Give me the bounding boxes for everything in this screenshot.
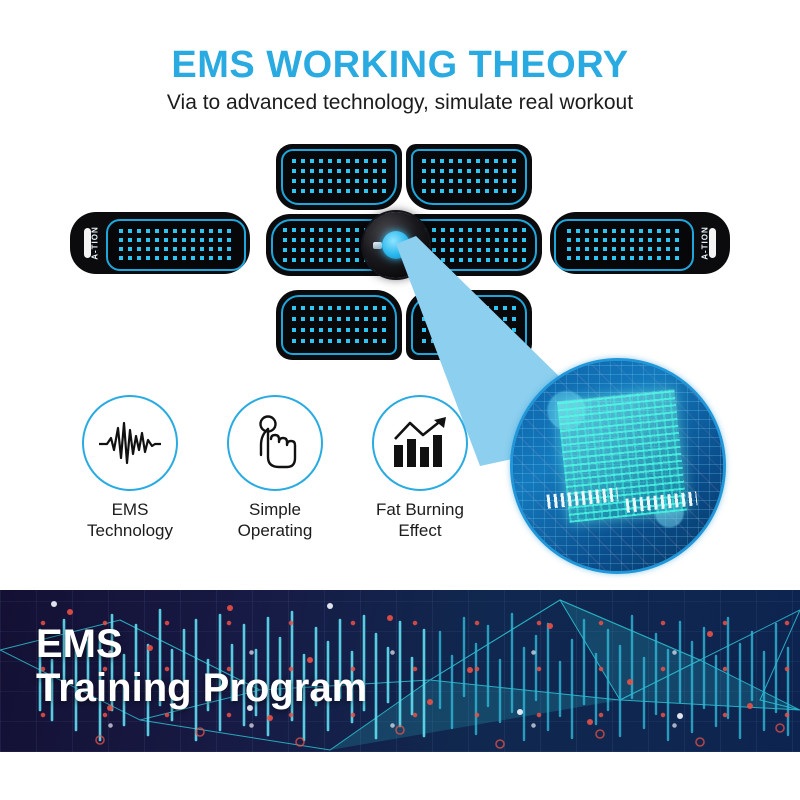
banner-line-2: Training Program [36, 666, 367, 710]
product-infographic: EMS WORKING THEORY Via to advanced techn… [0, 0, 800, 800]
feature-label: Fat BurningEffect [345, 500, 495, 541]
device-pad-bottom-left [276, 290, 402, 360]
circuit-board-magnifier [510, 358, 726, 574]
feature-icon-circle [82, 395, 178, 491]
bottom-banner: EMS Training Program [0, 590, 800, 752]
feature-label: EMSTechnology [55, 500, 205, 541]
separator-diamond-bottom [388, 277, 404, 293]
brand-logo-right: A-TION [701, 226, 710, 260]
feature-icon-circle [227, 395, 323, 491]
feature-ems-technology[interactable]: EMSTechnology [55, 395, 205, 541]
page-subtitle: Via to advanced technology, simulate rea… [0, 92, 800, 113]
hub-contact-left [373, 242, 382, 249]
touch-hand-icon [249, 415, 301, 471]
brand-logo-left: A-TION [90, 226, 99, 260]
feature-fat-burning-effect[interactable]: Fat BurningEffect [345, 395, 495, 541]
device-pad-top-left [276, 144, 402, 210]
ems-device-illustration: A-TION A-TION [70, 140, 730, 370]
banner-text: EMS Training Program [36, 622, 367, 710]
banner-line-1: EMS [36, 622, 367, 666]
arm-panel-left [106, 219, 246, 271]
feature-label: SimpleOperating [200, 500, 350, 541]
page-title: EMS WORKING THEORY [0, 46, 800, 84]
bar-chart-arrow-icon [390, 417, 450, 469]
feature-simple-operating[interactable]: SimpleOperating [200, 395, 350, 541]
device-arm-left: A-TION [70, 212, 250, 274]
device-pad-top-right [406, 144, 532, 210]
device-arm-right: A-TION [550, 212, 730, 274]
arm-slot-right [709, 228, 716, 258]
waveform-icon [97, 420, 163, 466]
feature-icon-circle [372, 395, 468, 491]
arm-panel-right [554, 219, 694, 271]
